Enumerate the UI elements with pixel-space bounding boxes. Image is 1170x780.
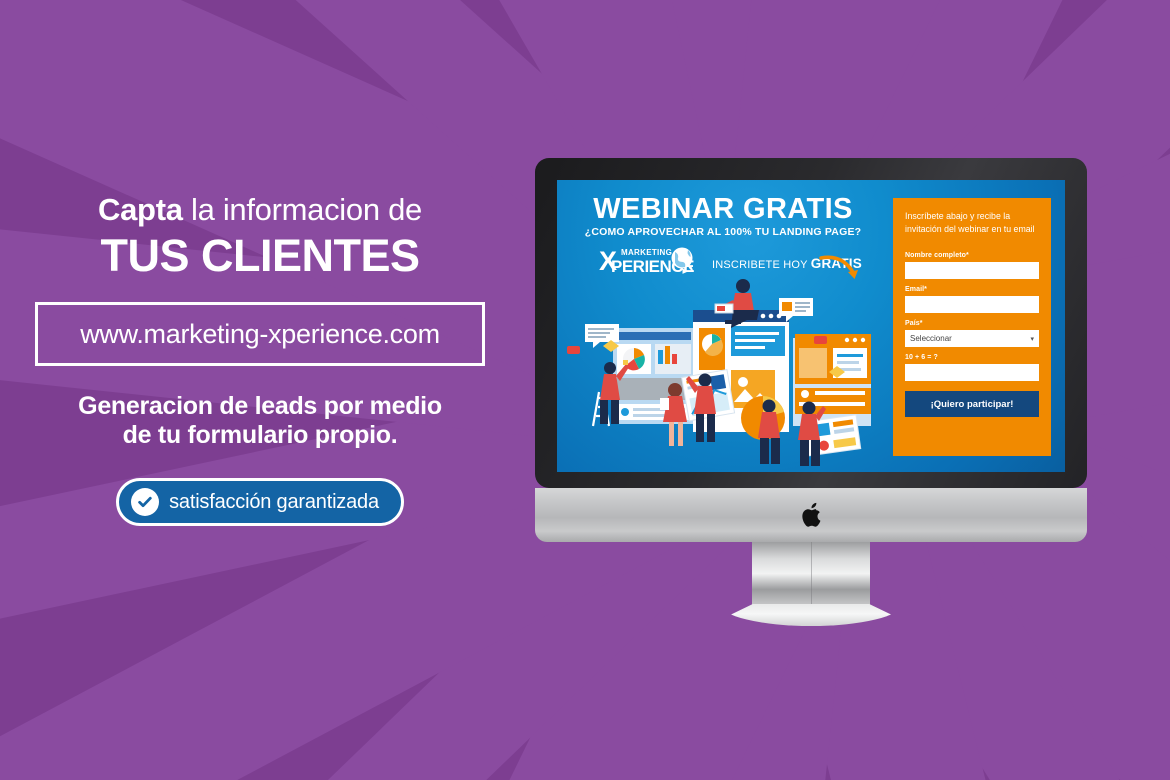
- full-name-input[interactable]: [905, 262, 1039, 279]
- landing-subtitle: ¿COMO APROVECHAR AL 100% TU LANDING PAGE…: [557, 226, 889, 238]
- subcopy-line-1: Generacion de leads por medio: [0, 392, 520, 421]
- website-url-text: www.marketing-xperience.com: [80, 319, 440, 350]
- subcopy: Generacion de leads por medio de tu form…: [0, 392, 520, 450]
- landing-title: WEBINAR GRATIS: [557, 193, 889, 226]
- form-intro-text: Inscríbete abajo y recibe la invitación …: [905, 210, 1039, 236]
- cta-prefix: INSCRIBETE HOY: [712, 259, 811, 271]
- subcopy-line-2: de tu formulario propio.: [0, 421, 520, 450]
- country-select[interactable]: Seleccionar ▾: [905, 330, 1039, 347]
- brand-logo: X MARKETING PERIENCE: [599, 246, 699, 280]
- monitor-bezel: WEBINAR GRATIS ¿COMO APROVECHAR AL 100% …: [535, 158, 1087, 488]
- logo-word-marketing: MARKETING: [621, 248, 672, 257]
- monitor-screen: WEBINAR GRATIS ¿COMO APROVECHAR AL 100% …: [557, 180, 1065, 472]
- captcha-input[interactable]: [905, 364, 1039, 381]
- chevron-down-icon: ▾: [1030, 335, 1034, 343]
- full-name-label: Nombre completo*: [905, 252, 1039, 259]
- banner-canvas: Capta la informacion de TUS CLIENTES www…: [0, 0, 1170, 780]
- registration-form: Inscríbete abajo y recibe la invitación …: [893, 198, 1051, 456]
- monitor-chin: [535, 488, 1087, 542]
- landing-illustration: [565, 276, 889, 472]
- email-input[interactable]: [905, 296, 1039, 313]
- email-label: Email*: [905, 286, 1039, 293]
- website-url-box[interactable]: www.marketing-xperience.com: [35, 302, 485, 366]
- country-label: País*: [905, 320, 1039, 327]
- check-circle-icon: [131, 488, 159, 516]
- country-selected-value: Seleccionar: [910, 334, 952, 343]
- captcha-label: 10 + 6 = ?: [905, 354, 1039, 361]
- headline-emphasis: Capta: [98, 192, 183, 227]
- page-title: Capta la informacion de: [0, 190, 520, 230]
- landing-page: WEBINAR GRATIS ¿COMO APROVECHAR AL 100% …: [557, 180, 1065, 472]
- submit-button[interactable]: ¡Quiero participar!: [905, 391, 1039, 417]
- imac-device: WEBINAR GRATIS ¿COMO APROVECHAR AL 100% …: [535, 158, 1087, 618]
- headline-line-2: TUS CLIENTES: [0, 230, 520, 282]
- status-badge: satisfacción garantizada: [116, 478, 404, 526]
- apple-logo-icon: [800, 502, 822, 533]
- headline-rest: la informacion de: [183, 192, 422, 227]
- marketing-copy-column: Capta la informacion de TUS CLIENTES www…: [0, 190, 520, 526]
- badge-label: satisfacción garantizada: [169, 491, 379, 514]
